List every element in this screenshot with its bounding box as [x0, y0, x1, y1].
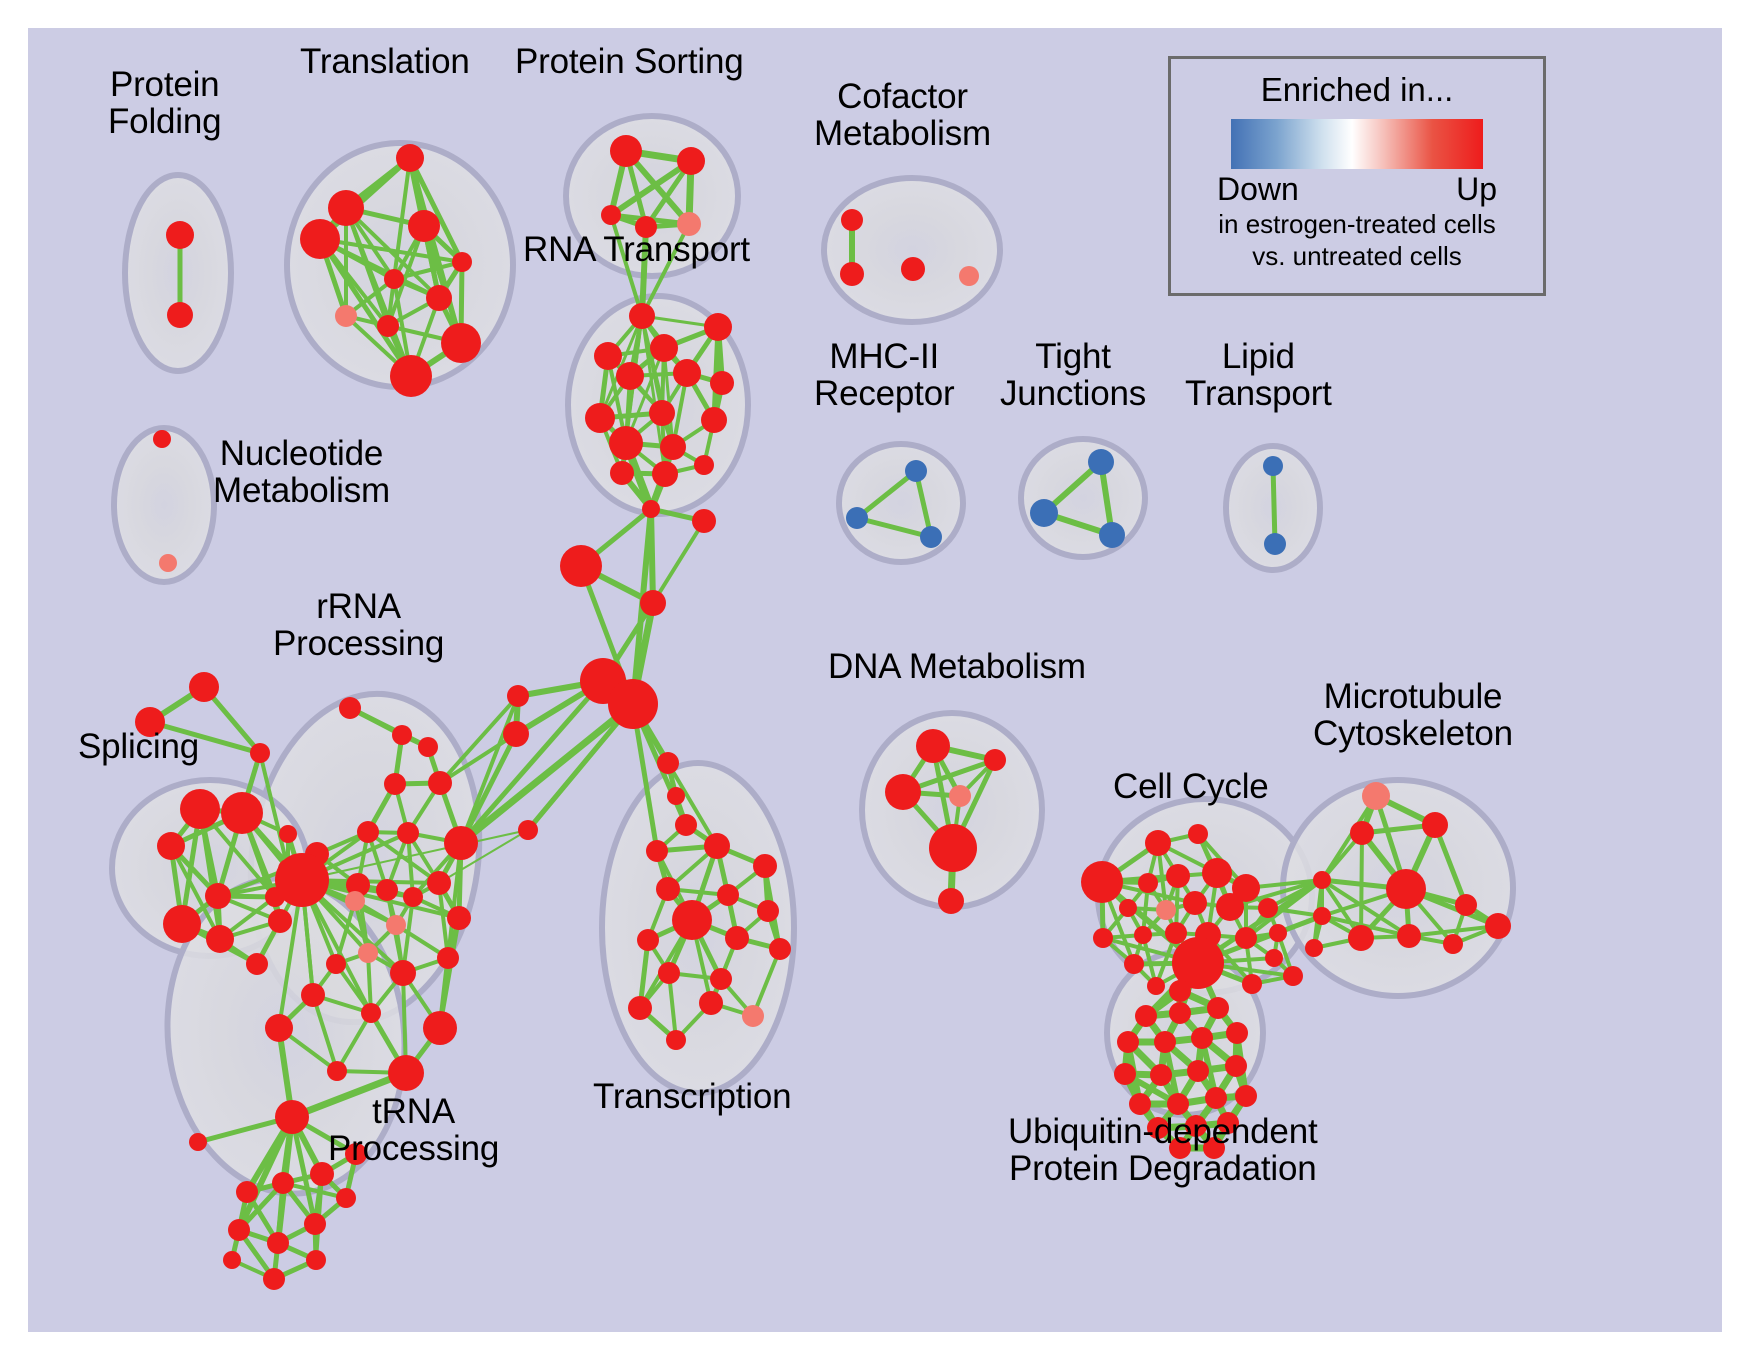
network-node[interactable] — [345, 1143, 367, 1165]
network-node[interactable] — [666, 1030, 686, 1050]
legend-caption-line2: vs. untreated cells — [1171, 242, 1543, 272]
network-edge — [642, 227, 646, 316]
network-node[interactable] — [601, 205, 621, 225]
network-node[interactable] — [444, 826, 478, 860]
network-node[interactable] — [441, 323, 481, 363]
network-node[interactable] — [428, 771, 452, 795]
network-node[interactable] — [694, 455, 714, 475]
network-node[interactable] — [1150, 1064, 1172, 1086]
network-node[interactable] — [710, 371, 734, 395]
network-node[interactable] — [1386, 869, 1426, 909]
network-node[interactable] — [1283, 966, 1303, 986]
network-node[interactable] — [1313, 907, 1331, 925]
network-node[interactable] — [1119, 899, 1137, 917]
network-node[interactable] — [1264, 533, 1286, 555]
network-node[interactable] — [1202, 858, 1232, 888]
network-node[interactable] — [920, 526, 942, 548]
network-node[interactable] — [397, 822, 419, 844]
network-node[interactable] — [390, 355, 432, 397]
network-node[interactable] — [650, 334, 678, 362]
network-node[interactable] — [1217, 1112, 1239, 1134]
network-node[interactable] — [1235, 1085, 1257, 1107]
network-node[interactable] — [1269, 924, 1287, 942]
network-node[interactable] — [1154, 1031, 1176, 1053]
legend-caption-line1: in estrogen-treated cells — [1171, 210, 1543, 240]
network-node[interactable] — [189, 1133, 207, 1151]
network-node[interactable] — [667, 787, 685, 805]
network-node[interactable] — [1348, 925, 1374, 951]
network-node[interactable] — [1088, 449, 1114, 475]
network-node[interactable] — [426, 285, 452, 311]
network-node[interactable] — [984, 749, 1006, 771]
network-node[interactable] — [1455, 894, 1477, 916]
network-node[interactable] — [1169, 980, 1191, 1002]
network-node[interactable] — [1207, 997, 1229, 1019]
network-node[interactable] — [757, 900, 779, 922]
network-node[interactable] — [279, 825, 297, 843]
network-node[interactable] — [268, 909, 292, 933]
network-node[interactable] — [710, 968, 732, 990]
network-node[interactable] — [1099, 522, 1125, 548]
network-node[interactable] — [452, 252, 472, 272]
network-node[interactable] — [1422, 812, 1448, 838]
network-node[interactable] — [901, 257, 925, 281]
network-node[interactable] — [427, 871, 451, 895]
network-node[interactable] — [189, 672, 219, 702]
network-node[interactable] — [1216, 893, 1244, 921]
network-node[interactable] — [447, 906, 471, 930]
network-node[interactable] — [357, 821, 379, 843]
network-node[interactable] — [753, 854, 777, 878]
network-node[interactable] — [1188, 824, 1208, 844]
network-node[interactable] — [418, 737, 438, 757]
network-node[interactable] — [263, 1268, 285, 1290]
network-node[interactable] — [1350, 821, 1374, 845]
network-node[interactable] — [675, 814, 697, 836]
network-node[interactable] — [652, 461, 678, 487]
network-node[interactable] — [1203, 1137, 1225, 1159]
network-node[interactable] — [1258, 898, 1278, 918]
network-node[interactable] — [1183, 891, 1207, 915]
cluster-hull-tight-junctions — [1021, 439, 1145, 557]
network-node[interactable] — [717, 884, 739, 906]
network-node[interactable] — [408, 210, 440, 242]
legend-low-label: Down — [1217, 171, 1299, 208]
network-node[interactable] — [403, 887, 423, 907]
network-node[interactable] — [180, 789, 220, 829]
network-node[interactable] — [594, 342, 622, 370]
network-node[interactable] — [608, 679, 658, 729]
network-node[interactable] — [701, 407, 727, 433]
network-node[interactable] — [1225, 1055, 1247, 1077]
network-node[interactable] — [885, 774, 921, 810]
network-node[interactable] — [656, 877, 680, 901]
network-node[interactable] — [959, 266, 979, 286]
network-node[interactable] — [300, 219, 340, 259]
network-node[interactable] — [135, 707, 165, 737]
network-node[interactable] — [327, 1061, 347, 1081]
network-node[interactable] — [310, 1162, 334, 1186]
network-node[interactable] — [376, 879, 398, 901]
network-node[interactable] — [841, 209, 863, 231]
figure-root: Protein FoldingTranslationProtein Sortin… — [0, 0, 1750, 1360]
legend-title: Enriched in... — [1171, 71, 1543, 109]
network-node[interactable] — [339, 697, 361, 719]
network-node[interactable] — [1397, 924, 1421, 948]
network-node[interactable] — [1485, 913, 1511, 939]
network-node[interactable] — [1129, 1093, 1151, 1115]
cluster-hull-protein-sorting — [566, 116, 738, 276]
network-node[interactable] — [1138, 873, 1158, 893]
network-node[interactable] — [390, 960, 416, 986]
network-node[interactable] — [629, 303, 655, 329]
network-node[interactable] — [361, 1003, 381, 1023]
network-node[interactable] — [507, 685, 529, 707]
network-node[interactable] — [742, 1005, 764, 1027]
network-node[interactable] — [1305, 939, 1323, 957]
network-node[interactable] — [916, 729, 950, 763]
network-node[interactable] — [396, 144, 424, 172]
network-node[interactable] — [1134, 926, 1152, 944]
network-node[interactable] — [560, 545, 602, 587]
network-node[interactable] — [384, 269, 404, 289]
network-node[interactable] — [1169, 1002, 1191, 1024]
network-node[interactable] — [392, 725, 412, 745]
network-node[interactable] — [699, 991, 723, 1015]
legend-box: Enriched in... Down Up in estrogen-treat… — [1168, 56, 1546, 296]
network-node[interactable] — [221, 792, 263, 834]
network-node[interactable] — [358, 943, 378, 963]
network-node[interactable] — [905, 460, 927, 482]
network-node[interactable] — [610, 135, 642, 167]
network-node[interactable] — [246, 953, 268, 975]
network-node[interactable] — [265, 1014, 293, 1042]
network-node[interactable] — [167, 302, 193, 328]
network-node[interactable] — [704, 313, 732, 341]
network-node[interactable] — [1030, 499, 1058, 527]
network-node[interactable] — [275, 853, 329, 907]
network-node[interactable] — [585, 403, 615, 433]
network-node[interactable] — [1167, 1093, 1189, 1115]
network-node[interactable] — [610, 461, 634, 485]
network-node[interactable] — [1156, 900, 1176, 920]
network-node[interactable] — [1169, 1137, 1191, 1159]
network-node[interactable] — [677, 147, 705, 175]
network-node[interactable] — [769, 938, 791, 960]
network-node[interactable] — [649, 400, 675, 426]
network-node[interactable] — [616, 362, 644, 390]
network-node[interactable] — [335, 305, 357, 327]
network-node[interactable] — [1145, 830, 1171, 856]
network-node[interactable] — [306, 1250, 326, 1270]
network-node[interactable] — [628, 996, 652, 1020]
network-node[interactable] — [1117, 1031, 1139, 1053]
network-node[interactable] — [1205, 1087, 1227, 1109]
network-node[interactable] — [1114, 1063, 1136, 1085]
network-node[interactable] — [1235, 927, 1257, 949]
network-node[interactable] — [228, 1219, 250, 1241]
network-edge — [150, 722, 260, 753]
network-node[interactable] — [157, 832, 185, 860]
network-node[interactable] — [672, 900, 712, 940]
network-node[interactable] — [206, 925, 234, 953]
network-node[interactable] — [1147, 1117, 1169, 1139]
network-node[interactable] — [1185, 1115, 1207, 1137]
network-node[interactable] — [846, 507, 868, 529]
network-node[interactable] — [1147, 977, 1165, 995]
network-node[interactable] — [1242, 974, 1262, 994]
network-node[interactable] — [236, 1181, 258, 1203]
network-node[interactable] — [423, 1011, 457, 1045]
network-canvas: Protein FoldingTranslationProtein Sortin… — [28, 28, 1722, 1332]
network-node[interactable] — [1313, 871, 1331, 889]
network-node[interactable] — [1081, 861, 1123, 903]
network-node[interactable] — [635, 216, 657, 238]
network-node[interactable] — [326, 954, 346, 974]
network-node[interactable] — [840, 262, 864, 286]
cluster-hull-mhc-ii-receptor — [839, 444, 963, 562]
network-node[interactable] — [646, 840, 668, 862]
network-node[interactable] — [159, 554, 177, 572]
network-node[interactable] — [1135, 1005, 1157, 1027]
network-node[interactable] — [250, 743, 270, 763]
network-node[interactable] — [704, 833, 730, 859]
network-node[interactable] — [272, 1172, 294, 1194]
network-node[interactable] — [166, 221, 194, 249]
network-node[interactable] — [642, 500, 660, 518]
network-node[interactable] — [1265, 949, 1283, 967]
network-node[interactable] — [1124, 954, 1144, 974]
network-node[interactable] — [163, 905, 201, 943]
network-node[interactable] — [1166, 864, 1190, 888]
network-node[interactable] — [1191, 1027, 1213, 1049]
network-node[interactable] — [388, 1055, 424, 1091]
network-node[interactable] — [267, 1232, 289, 1254]
network-node[interactable] — [437, 947, 459, 969]
network-node[interactable] — [503, 721, 529, 747]
network-node[interactable] — [658, 962, 680, 984]
network-node[interactable] — [518, 820, 538, 840]
network-node[interactable] — [1165, 922, 1187, 944]
network-node[interactable] — [304, 1213, 326, 1235]
network-node[interactable] — [223, 1251, 241, 1269]
network-node[interactable] — [949, 785, 971, 807]
legend-color-gradient-bar — [1231, 119, 1483, 169]
legend-endpoints: Down Up — [1217, 171, 1497, 208]
network-node[interactable] — [1226, 1022, 1248, 1044]
network-node[interactable] — [660, 434, 686, 460]
network-node[interactable] — [205, 883, 231, 909]
network-node[interactable] — [640, 590, 666, 616]
legend-high-label: Up — [1456, 171, 1497, 208]
network-node[interactable] — [328, 190, 364, 226]
network-node[interactable] — [1362, 782, 1390, 810]
network-node[interactable] — [692, 509, 716, 533]
network-node[interactable] — [673, 359, 701, 387]
network-node[interactable] — [386, 915, 406, 935]
network-node[interactable] — [377, 315, 399, 337]
network-node[interactable] — [1263, 456, 1283, 476]
network-node[interactable] — [153, 430, 171, 448]
network-node[interactable] — [938, 888, 964, 914]
network-node[interactable] — [301, 983, 325, 1007]
network-node[interactable] — [677, 212, 701, 236]
network-node[interactable] — [345, 891, 365, 911]
network-node[interactable] — [384, 773, 406, 795]
network-edge — [1273, 466, 1275, 544]
network-node[interactable] — [637, 929, 659, 951]
network-node[interactable] — [1093, 928, 1113, 948]
network-node[interactable] — [1187, 1060, 1209, 1082]
network-node[interactable] — [336, 1188, 356, 1208]
network-edge — [653, 521, 704, 603]
network-node[interactable] — [657, 752, 679, 774]
network-node[interactable] — [929, 824, 977, 872]
network-node[interactable] — [1443, 934, 1463, 954]
network-node[interactable] — [725, 926, 749, 950]
network-node[interactable] — [609, 426, 643, 460]
network-node[interactable] — [275, 1100, 309, 1134]
